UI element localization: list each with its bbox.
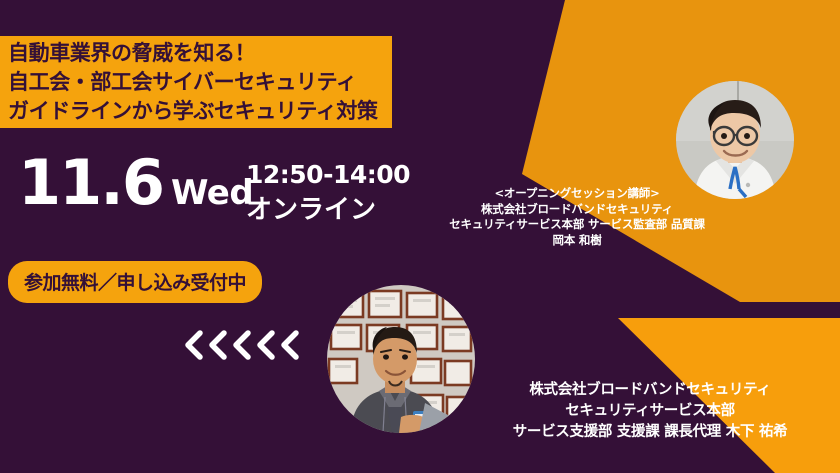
caption-line: <オープニングセッション講師> [432,186,722,202]
event-date: 11.6 Wed [18,152,253,214]
chevron-left-icon [206,330,228,360]
title-banner: 自動車業界の脅威を知る！ 自工会・部工会サイバーセキュリティ ガイドラインから学… [0,36,392,128]
speaker-name: 岡本 和樹 [432,233,722,249]
event-day-of-week: Wed [171,176,253,210]
event-format: オンライン [246,194,410,226]
speaker-caption-session: 株式会社ブロードバンドセキュリティ セキュリティサービス本部 サービス支援部 支… [480,380,820,443]
caption-line: セキュリティサービス本部 [480,401,820,422]
title-line-1: 自動車業界の脅威を知る！ [8,39,392,68]
speaker-name: サービス支援部 支援課 課長代理 木下 祐希 [480,422,820,443]
chevron-left-icon [254,330,276,360]
caption-line: 株式会社ブロードバンドセキュリティ [432,202,722,218]
caption-line: 株式会社ブロードバンドセキュリティ [480,380,820,401]
event-time: 12:50-14:00 [246,160,410,190]
chevron-left-icon [230,330,252,360]
webinar-banner: 自動車業界の脅威を知る！ 自工会・部工会サイバーセキュリティ ガイドラインから学… [0,0,840,473]
chevron-left-icon [278,330,300,360]
speaker-caption-opening: <オープニングセッション講師> 株式会社ブロードバンドセキュリティ セキュリティ… [432,186,722,248]
title-line-3: ガイドラインから学ぶセキュリティ対策 [8,97,392,126]
chevron-group [182,330,300,360]
speaker-photo-opening [676,81,794,199]
event-time-block: 12:50-14:00 オンライン [246,160,410,226]
caption-line: セキュリティサービス本部 サービス監査部 品質課 [432,217,722,233]
chevron-left-icon [182,330,204,360]
title-line-2: 自工会・部工会サイバーセキュリティ [8,68,392,97]
event-date-number: 11.6 [18,152,163,214]
speaker-photo-session [327,285,475,433]
registration-badge[interactable]: 参加無料／申し込み受付中 [8,261,262,303]
